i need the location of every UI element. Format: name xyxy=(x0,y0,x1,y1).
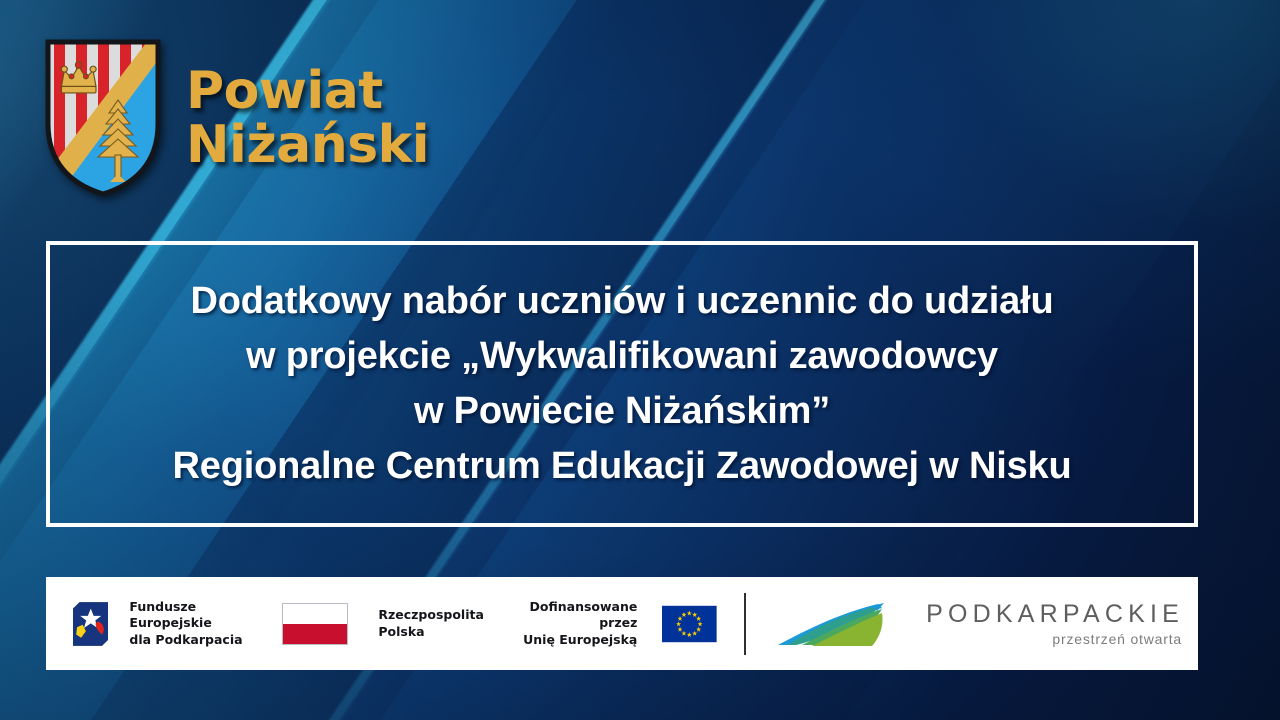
logo-caption-european-union: Dofinansowane przez Unię Europejską xyxy=(513,599,637,649)
european-funds-logo-icon xyxy=(73,597,109,651)
poland-flag-icon xyxy=(282,603,348,645)
podkarpackie-logo-icon xyxy=(778,601,896,647)
logo-european-union: Dofinansowane przez Unię Europejską xyxy=(513,599,717,649)
logo-caption-republic-of-poland: Rzeczpospolita Polska xyxy=(378,607,484,640)
logo-divider xyxy=(744,593,746,655)
title-frame: Dodatkowy nabór uczniów i uczennic do ud… xyxy=(46,241,1198,527)
european-union-flag-icon xyxy=(662,602,717,646)
podkarpackie-wordmark: PODKARPACKIE xyxy=(926,602,1184,627)
brand-name: Powiat Niżański xyxy=(186,64,429,172)
header: Powiat Niżański xyxy=(44,38,429,198)
powiat-nizanski-coat-of-arms-icon xyxy=(44,38,162,198)
logo-podkarpackie: PODKARPACKIE przestrzeń otwarta xyxy=(778,601,1184,647)
page-title: Dodatkowy nabór uczniów i uczennic do ud… xyxy=(155,274,1090,494)
logo-republic-of-poland: Rzeczpospolita Polska xyxy=(282,603,484,645)
funding-logo-bar: Fundusze Europejskie dla Podkarpacia Rze… xyxy=(46,577,1198,670)
logo-european-funds: Fundusze Europejskie dla Podkarpacia xyxy=(73,597,253,651)
logo-caption-european-funds: Fundusze Europejskie dla Podkarpacia xyxy=(129,599,253,649)
poster-canvas: Powiat Niżański Dodatkowy nabór uczniów … xyxy=(0,0,1280,720)
podkarpackie-tagline: przestrzeń otwarta xyxy=(926,632,1182,646)
